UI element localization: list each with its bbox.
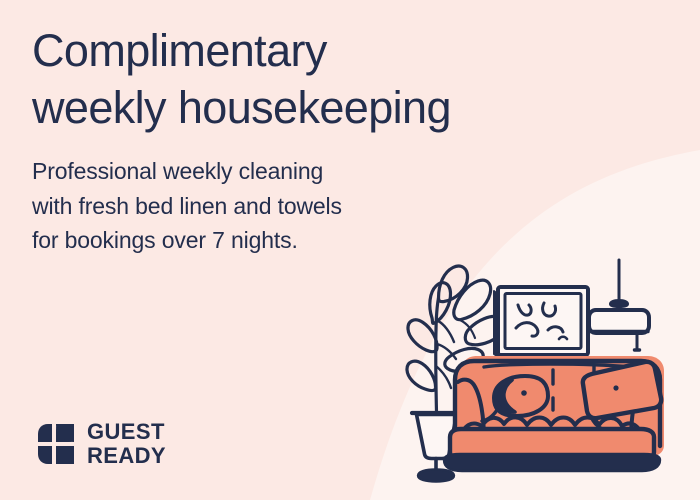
guestready-grid-mark-icon	[32, 422, 76, 466]
living-room-illustration	[398, 258, 700, 500]
pendant-lamp-icon	[589, 260, 649, 350]
logo-word-guest: GUEST	[87, 421, 166, 443]
logo-wordmark: GUEST READY	[87, 421, 166, 467]
logo-word-ready: READY	[87, 445, 166, 467]
coral-sofa-icon	[444, 356, 664, 471]
text-block: Complimentary weekly housekeeping Profes…	[32, 22, 462, 258]
brand-logo: GUEST READY	[32, 421, 166, 467]
framed-artwork-icon	[494, 287, 588, 359]
description-text: Professional weekly cleaning with fresh …	[32, 154, 462, 258]
page-title: Complimentary weekly housekeeping	[32, 22, 462, 136]
promo-card: Complimentary weekly housekeeping Profes…	[0, 0, 700, 500]
